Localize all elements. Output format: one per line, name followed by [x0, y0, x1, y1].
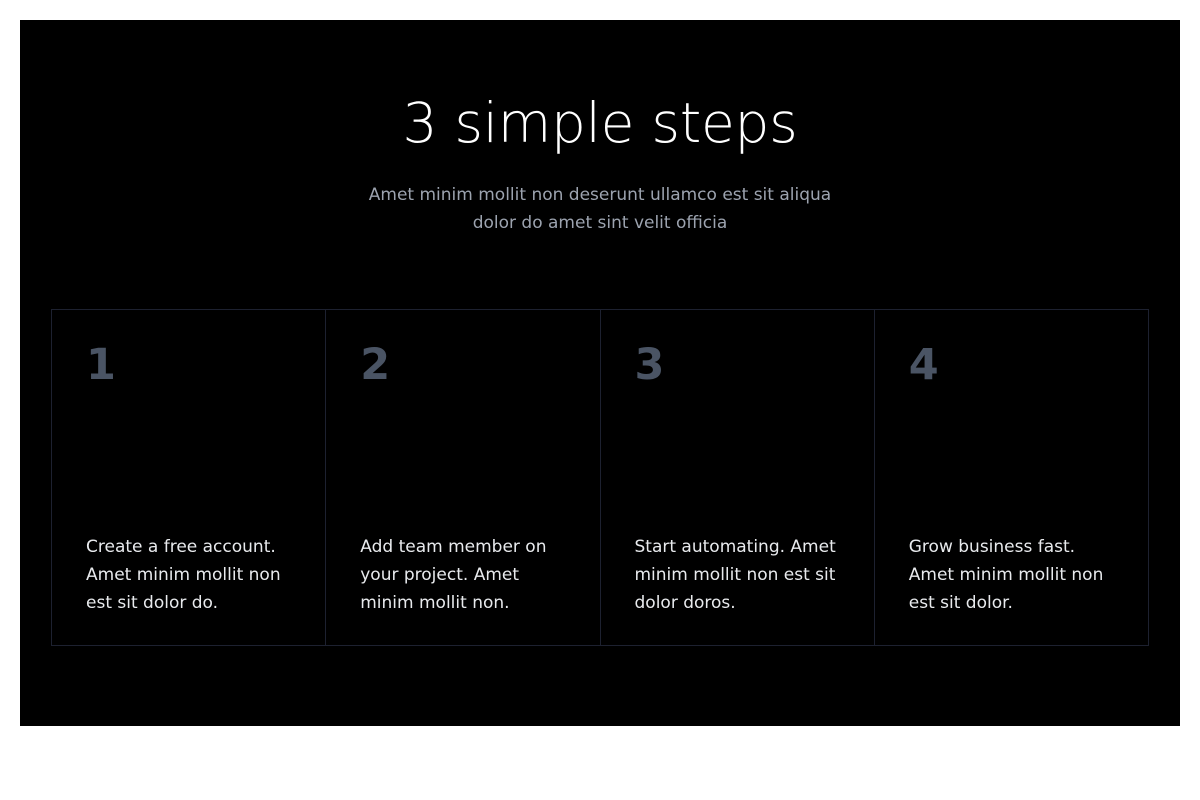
- step-spacer: [86, 390, 291, 533]
- page-title: 3 simple steps: [20, 92, 1180, 154]
- step-description: Add team member on your project. Amet mi…: [360, 533, 565, 617]
- section-header: 3 simple steps Amet minim mollit non des…: [20, 20, 1180, 237]
- page-root: 3 simple steps Amet minim mollit non des…: [0, 0, 1200, 800]
- step-number: 3: [635, 340, 840, 390]
- section-subtitle: Amet minim mollit non deserunt ullamco e…: [365, 181, 835, 237]
- steps-grid: 1 Create a free account. Amet minim moll…: [51, 309, 1149, 646]
- step-spacer: [909, 390, 1114, 533]
- step-card-1[interactable]: 1 Create a free account. Amet minim moll…: [52, 310, 326, 645]
- step-spacer: [635, 390, 840, 533]
- step-number: 2: [360, 340, 565, 390]
- step-description: Create a free account. Amet minim mollit…: [86, 533, 291, 617]
- step-card-2[interactable]: 2 Add team member on your project. Amet …: [326, 310, 600, 645]
- step-number: 4: [909, 340, 1114, 390]
- steps-section: 3 simple steps Amet minim mollit non des…: [20, 20, 1180, 726]
- step-card-3[interactable]: 3 Start automating. Amet minim mollit no…: [601, 310, 875, 645]
- step-number: 1: [86, 340, 291, 390]
- step-spacer: [360, 390, 565, 533]
- step-description: Start automating. Amet minim mollit non …: [635, 533, 840, 617]
- step-card-4[interactable]: 4 Grow business fast. Amet minim mollit …: [875, 310, 1148, 645]
- step-description: Grow business fast. Amet minim mollit no…: [909, 533, 1114, 617]
